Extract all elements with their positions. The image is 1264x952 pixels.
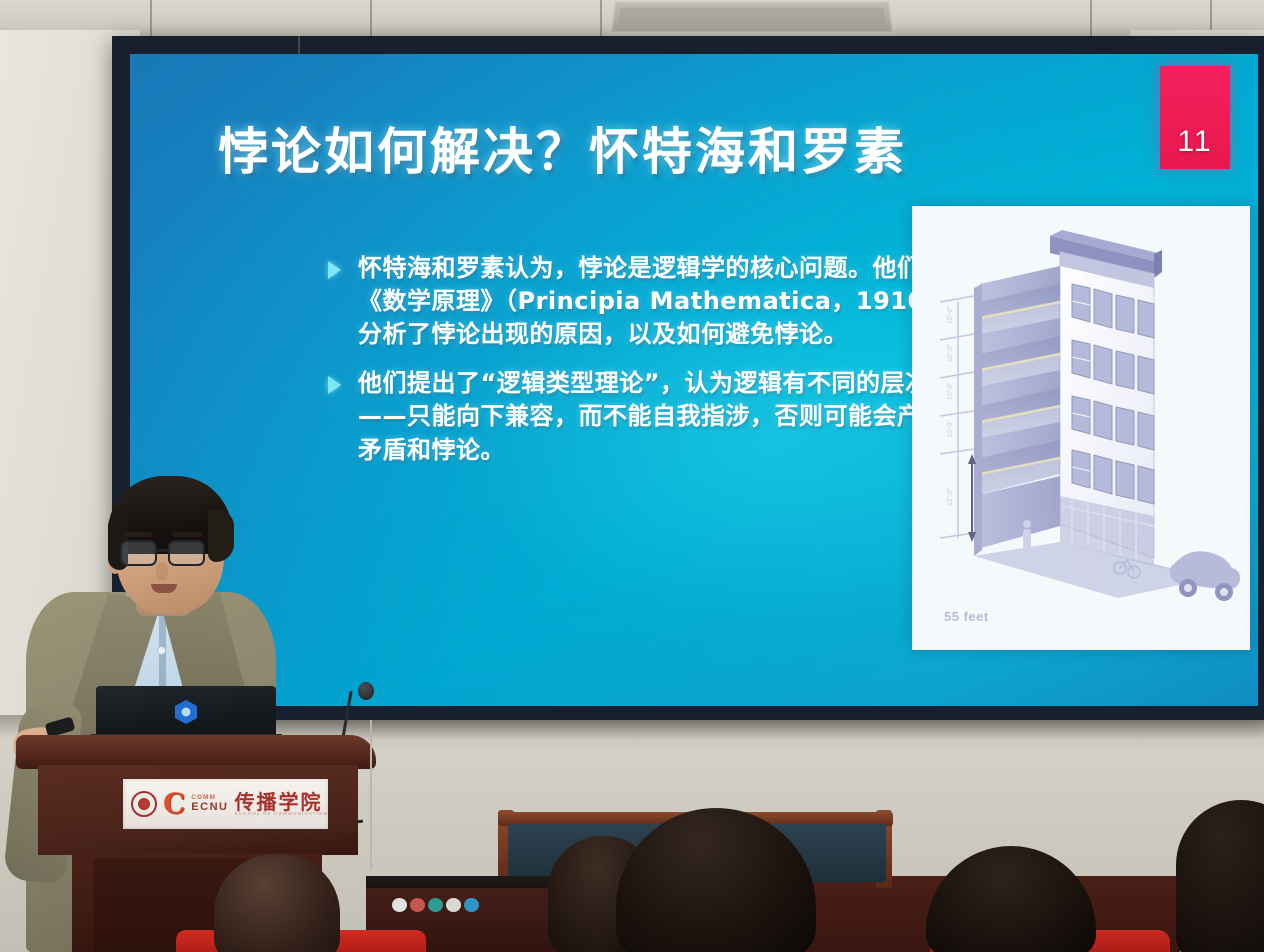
slide-number-text: 11 xyxy=(1177,125,1212,159)
svg-text:10'-0": 10'-0" xyxy=(947,306,954,324)
triangle-bullet-icon xyxy=(328,367,358,466)
slide-title: 悖论如何解决？怀特海和罗素 xyxy=(218,112,907,184)
svg-text:10'-0": 10'-0" xyxy=(947,382,954,400)
list-item: 怀特海和罗素认为，悖论是逻辑学的核心问题。他们在《数学原理》（Principia… xyxy=(328,252,968,351)
university-seal-icon xyxy=(131,791,157,817)
shirt-button xyxy=(157,646,166,655)
ecnu-wordmark: COMM ECNU xyxy=(191,795,228,813)
lecture-hall-scene: 11 悖论如何解决？怀特海和罗素 怀特海和罗素认为，悖论是逻辑学的核心问题。他们… xyxy=(0,0,1264,952)
desk-stickers xyxy=(392,898,479,912)
school-name-cn: 传播学院 xyxy=(234,792,328,812)
sticker xyxy=(392,898,407,912)
school-name-en: SCHOOL OF COMMUNICATION xyxy=(234,812,328,817)
school-name: 传播学院 SCHOOL OF COMMUNICATION xyxy=(234,792,328,817)
microphone-head-icon xyxy=(358,682,374,700)
svg-text:12'-0": 12'-0" xyxy=(947,488,954,506)
svg-text:10'-0": 10'-0" xyxy=(947,344,954,362)
bullet-text: 他们提出了“逻辑类型理论”，认为逻辑有不同的层次——只能向下兼容，而不能自我指涉… xyxy=(358,367,968,466)
hanging-cable xyxy=(370,720,372,870)
laptop-hexagon-logo-icon xyxy=(175,700,197,724)
sticker xyxy=(410,898,425,912)
bullet-text: 怀特海和罗素认为，悖论是逻辑学的核心问题。他们在《数学原理》（Principia… xyxy=(358,252,968,351)
slide-number-badge: 11 xyxy=(1160,66,1230,169)
list-item: 他们提出了“逻辑类型理论”，认为逻辑有不同的层次——只能向下兼容，而不能自我指涉… xyxy=(328,367,968,466)
slide-bullet-list: 怀特海和罗素认为，悖论是逻辑学的核心问题。他们在《数学原理》（Principia… xyxy=(328,252,968,483)
presenter-nose xyxy=(156,562,168,580)
podium-top xyxy=(16,735,376,769)
eyeglasses-icon xyxy=(120,540,157,566)
presenter-hair-side xyxy=(208,510,234,562)
presenter-eyebrow xyxy=(172,532,202,537)
comm-brand-mark-icon: C xyxy=(163,790,185,818)
svg-text:10'-0": 10'-0" xyxy=(947,420,954,438)
figure-caption: 55 feet xyxy=(944,609,989,624)
eyeglasses-bridge xyxy=(157,549,169,552)
presenter-eyebrow xyxy=(123,532,153,537)
presenter-laptop[interactable] xyxy=(96,686,276,736)
podium-name-plate: C COMM ECNU 传播学院 SCHOOL OF COMMUNICATION xyxy=(123,779,328,829)
ecnu-label: ECNU xyxy=(191,802,228,813)
ceiling-air-vent xyxy=(610,1,895,33)
sticker xyxy=(464,898,479,912)
eyeglasses-icon xyxy=(168,540,205,566)
sticker xyxy=(446,898,461,912)
sticker xyxy=(428,898,443,912)
building-cutaway-illustration: 10'-0" 10'-0" 10'-0" 10'-0" 12'-0" xyxy=(912,206,1250,650)
podium-front-panel: C COMM ECNU 传播学院 SCHOOL OF COMMUNICATION xyxy=(38,765,358,855)
slide-figure-building-diagram: 10'-0" 10'-0" 10'-0" 10'-0" 12'-0" 55 fe… xyxy=(912,206,1250,650)
triangle-bullet-icon xyxy=(328,252,358,351)
